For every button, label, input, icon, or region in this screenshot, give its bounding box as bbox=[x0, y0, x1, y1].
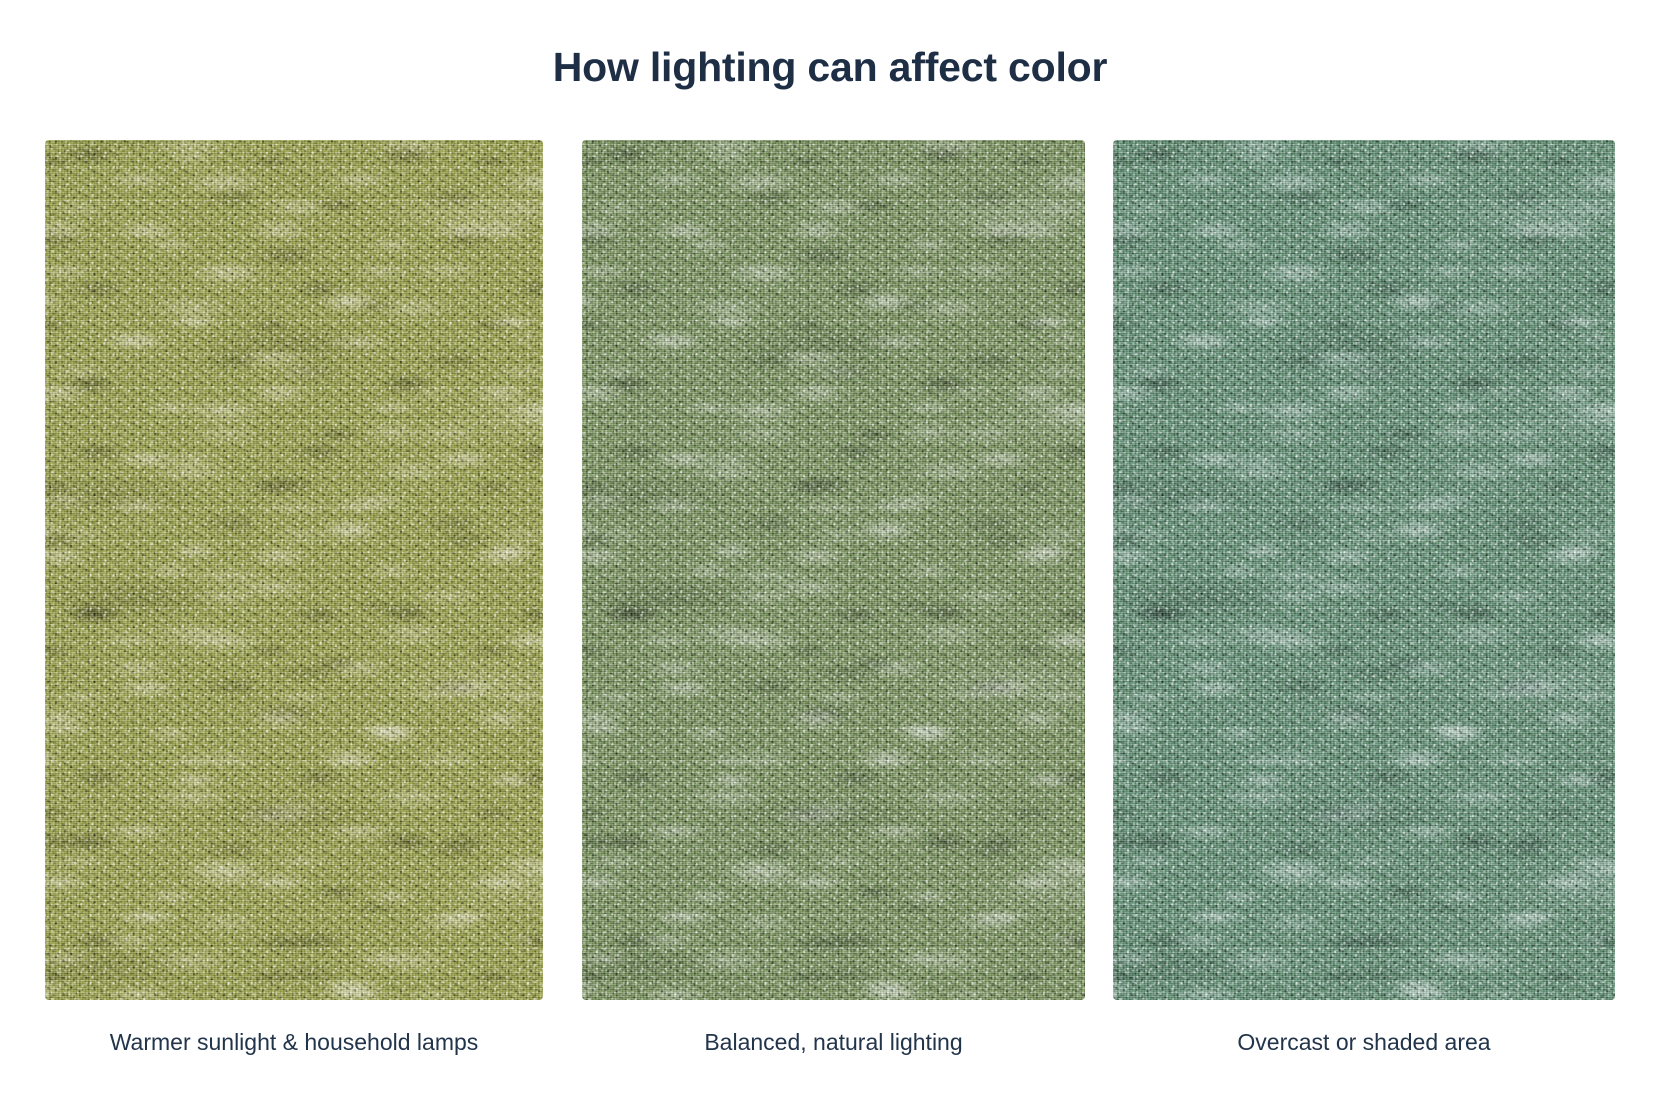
texture-color-tint bbox=[582, 140, 1085, 1000]
caption-row: Warmer sunlight & household lamps Balanc… bbox=[45, 1029, 1615, 1069]
rug-swatch-balanced[interactable] bbox=[582, 140, 1085, 1000]
page-title: How lighting can affect color bbox=[0, 44, 1660, 91]
lighting-comparison-page: How lighting can affect color bbox=[0, 0, 1660, 1107]
swatch-caption-balanced: Balanced, natural lighting bbox=[582, 1029, 1085, 1056]
rug-swatch-warm[interactable] bbox=[45, 140, 543, 1000]
texture-balanced bbox=[582, 140, 1085, 1000]
texture-warm bbox=[45, 140, 543, 1000]
swatch-row bbox=[45, 140, 1615, 1000]
swatch-caption-cool: Overcast or shaded area bbox=[1113, 1029, 1615, 1056]
texture-cool bbox=[1113, 140, 1615, 1000]
rug-swatch-cool[interactable] bbox=[1113, 140, 1615, 1000]
texture-color-tint bbox=[45, 140, 543, 1000]
texture-color-tint bbox=[1113, 140, 1615, 1000]
swatch-caption-warm: Warmer sunlight & household lamps bbox=[45, 1029, 543, 1056]
